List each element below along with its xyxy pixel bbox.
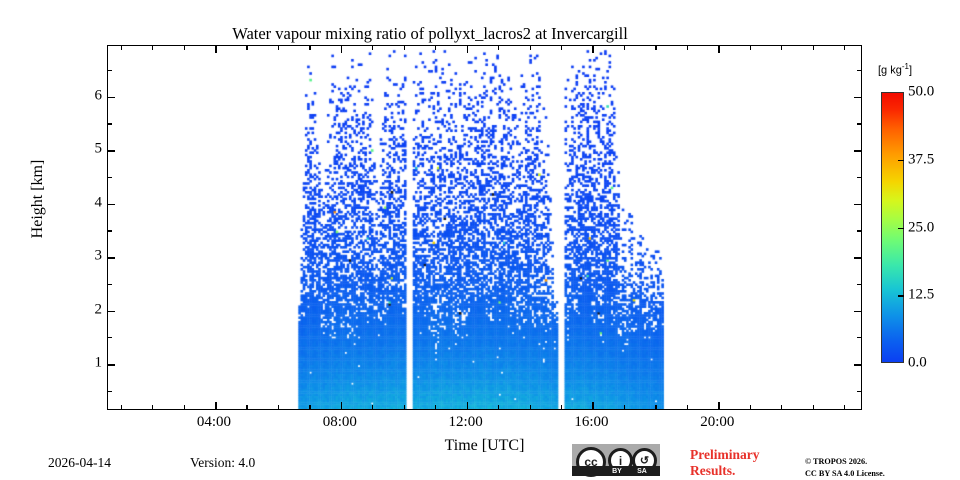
- plot-axes: [107, 45, 862, 410]
- axis-tick: [854, 150, 861, 152]
- preliminary-line-1: Preliminary: [690, 447, 759, 463]
- axis-tick: [592, 46, 594, 53]
- axis-tick: [108, 311, 115, 313]
- y-tick-label: 1: [62, 354, 102, 371]
- colorbar-tick-label: 0.0: [908, 355, 927, 372]
- axis-tick: [498, 46, 499, 50]
- axis-tick: [404, 405, 405, 409]
- axis-tick: [854, 257, 861, 259]
- axis-tick: [108, 177, 112, 178]
- x-tick-label: 08:00: [323, 414, 357, 431]
- axis-tick: [498, 405, 499, 409]
- axis-tick: [246, 46, 247, 50]
- axis-tick: [341, 46, 343, 53]
- axis-tick: [108, 337, 112, 338]
- axis-tick: [309, 46, 310, 50]
- axis-tick: [750, 405, 751, 409]
- axis-tick: [655, 405, 656, 409]
- heatmap-data-canvas: [108, 46, 861, 409]
- axis-tick: [561, 405, 562, 409]
- preliminary-results-note: Preliminary Results.: [690, 447, 759, 478]
- axis-tick: [857, 391, 861, 392]
- axis-tick: [108, 97, 115, 99]
- axis-tick: [813, 405, 814, 409]
- footer-date: 2026-04-14: [48, 455, 111, 471]
- colorbar-tick: [898, 295, 904, 296]
- axis-tick: [718, 46, 720, 53]
- axis-tick: [108, 70, 112, 71]
- axis-tick: [467, 402, 469, 409]
- axis-tick: [854, 204, 861, 206]
- axis-tick: [108, 364, 115, 366]
- axis-tick: [108, 150, 115, 152]
- colorbar-tick-label: 50.0: [908, 84, 934, 101]
- axis-tick: [152, 405, 153, 409]
- cc-by-label: BY: [605, 466, 629, 476]
- axis-tick: [530, 46, 531, 50]
- axis-tick: [215, 46, 217, 53]
- axis-tick: [184, 46, 185, 50]
- axis-tick: [108, 204, 115, 206]
- axis-tick: [655, 46, 656, 50]
- axis-tick: [781, 405, 782, 409]
- axis-tick: [854, 311, 861, 313]
- y-axis-title: Height [km]: [29, 99, 47, 299]
- axis-tick: [813, 46, 814, 50]
- axis-tick: [152, 46, 153, 50]
- axis-tick: [108, 391, 112, 392]
- cc-sa-label: SA: [630, 466, 654, 476]
- preliminary-line-2: Results.: [690, 463, 759, 479]
- axis-tick: [857, 230, 861, 231]
- x-tick-label: 20:00: [700, 414, 734, 431]
- colorbar-tick: [898, 228, 904, 229]
- figure-root: Water vapour mixing ratio of pollyxt_lac…: [0, 0, 960, 480]
- colorbar-unit-text: [g kg: [878, 65, 902, 77]
- axis-tick: [530, 405, 531, 409]
- copyright-line-1: © TROPOS 2026.: [805, 456, 885, 468]
- axis-tick: [309, 405, 310, 409]
- axis-tick: [857, 284, 861, 285]
- axis-tick: [435, 46, 436, 50]
- axis-tick: [854, 364, 861, 366]
- axis-tick: [121, 405, 122, 409]
- colorbar-unit-label: [g kg-1]: [878, 62, 912, 77]
- axis-tick: [687, 46, 688, 50]
- cc-license-badge[interactable]: cc i ↺ BY SA: [572, 444, 660, 476]
- axis-tick: [404, 46, 405, 50]
- axis-tick: [372, 405, 373, 409]
- axis-tick: [246, 405, 247, 409]
- y-tick-label: 3: [62, 248, 102, 265]
- colorbar-unit-exponent: -1: [902, 62, 909, 71]
- y-tick-label: 2: [62, 301, 102, 318]
- axis-tick: [561, 46, 562, 50]
- x-tick-label: 12:00: [449, 414, 483, 431]
- x-tick-label: 16:00: [574, 414, 608, 431]
- axis-tick: [750, 46, 751, 50]
- y-tick-label: 4: [62, 194, 102, 211]
- axis-tick: [467, 46, 469, 53]
- axis-tick: [687, 405, 688, 409]
- axis-tick: [844, 405, 845, 409]
- axis-tick: [857, 123, 861, 124]
- axis-tick: [184, 405, 185, 409]
- colorbar-tick-label: 37.5: [908, 151, 934, 168]
- y-tick-label: 6: [62, 87, 102, 104]
- axis-tick: [857, 337, 861, 338]
- axis-tick: [624, 46, 625, 50]
- colorbar-tick-label: 25.0: [908, 219, 934, 236]
- axis-tick: [108, 257, 115, 259]
- axis-tick: [781, 46, 782, 50]
- axis-tick: [854, 97, 861, 99]
- plot-area: [108, 46, 861, 409]
- axis-tick: [341, 402, 343, 409]
- axis-tick: [624, 405, 625, 409]
- axis-tick: [278, 46, 279, 50]
- copyright-note: © TROPOS 2026. CC BY SA 4.0 License.: [805, 456, 885, 480]
- axis-tick: [108, 284, 112, 285]
- x-tick-label: 04:00: [197, 414, 231, 431]
- colorbar-tick-label: 12.5: [908, 287, 934, 304]
- copyright-line-2: CC BY SA 4.0 License.: [805, 468, 885, 480]
- axis-tick: [108, 230, 112, 231]
- axis-tick: [121, 46, 122, 50]
- axis-tick: [215, 402, 217, 409]
- axis-tick: [718, 402, 720, 409]
- footer-version: Version: 4.0: [190, 455, 255, 471]
- axis-tick: [592, 402, 594, 409]
- axis-tick: [108, 123, 112, 124]
- axis-tick: [844, 46, 845, 50]
- axis-tick: [857, 70, 861, 71]
- y-tick-label: 5: [62, 141, 102, 158]
- axis-tick: [857, 177, 861, 178]
- colorbar-tick: [898, 160, 904, 161]
- figure-title: Water vapour mixing ratio of pollyxt_lac…: [0, 24, 860, 44]
- colorbar-unit-bracket: ]: [909, 65, 912, 77]
- axis-tick: [278, 405, 279, 409]
- axis-tick: [435, 405, 436, 409]
- axis-tick: [372, 46, 373, 50]
